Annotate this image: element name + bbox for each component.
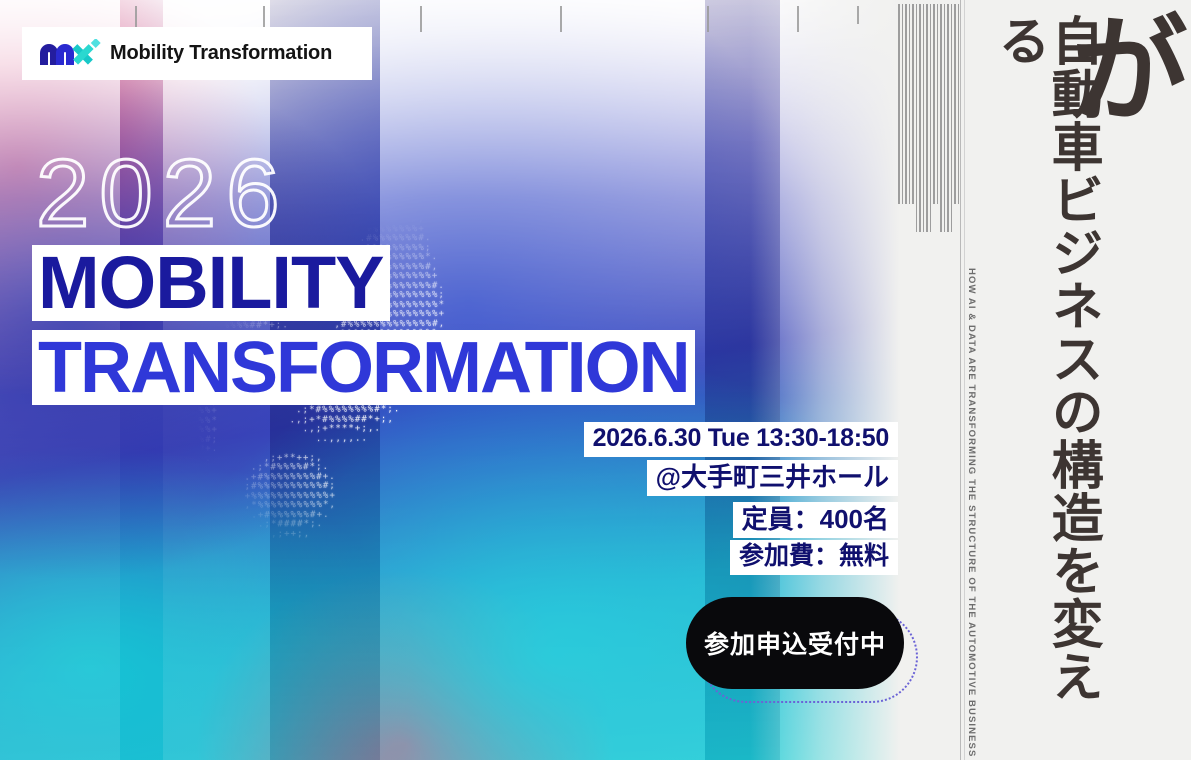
event-venue: @大手町三井ホール [647,460,898,496]
headline-line-2: TRANSFORMATION [32,330,695,405]
event-date-row: 2026.6.30 Tue 13:30-18:50 [584,422,898,462]
mx-logo-icon [36,39,104,69]
right-panel: HOW AI & DATA ARE TRANSFORMING THE STRUC… [960,0,1191,760]
event-date-time: 2026.6.30 Tue 13:30-18:50 [584,422,898,457]
headline-transformation-text: TRANSFORMATION [38,332,689,404]
headline-line-1: MOBILITY [32,245,390,321]
event-fee-row: 参加費：無料 [730,540,898,580]
logo-wordmark: Mobility Transformation [110,42,332,65]
event-capacity: 定員：400名 [733,502,898,538]
apply-now-button[interactable]: 参加申込受付中 [686,597,904,689]
barcode-decoration [898,4,960,232]
event-capacity-row: 定員：400名 [733,502,898,543]
brand-logo[interactable]: Mobility Transformation [22,27,372,80]
event-fee: 参加費：無料 [730,540,898,575]
event-poster: .,;++**++;,. ,;+**########**+;,. .;+*##%… [0,0,1191,760]
headline-year: 2026 [36,146,290,242]
english-tagline: HOW AI & DATA ARE TRANSFORMING THE STRUC… [966,268,977,757]
headline-mobility-text: MOBILITY [38,246,384,320]
japanese-main-headline: ＡＩ・データが [1060,8,1191,760]
event-venue-row: @大手町三井ホール [647,460,898,501]
cta-area: 参加申込受付中 [686,597,904,689]
